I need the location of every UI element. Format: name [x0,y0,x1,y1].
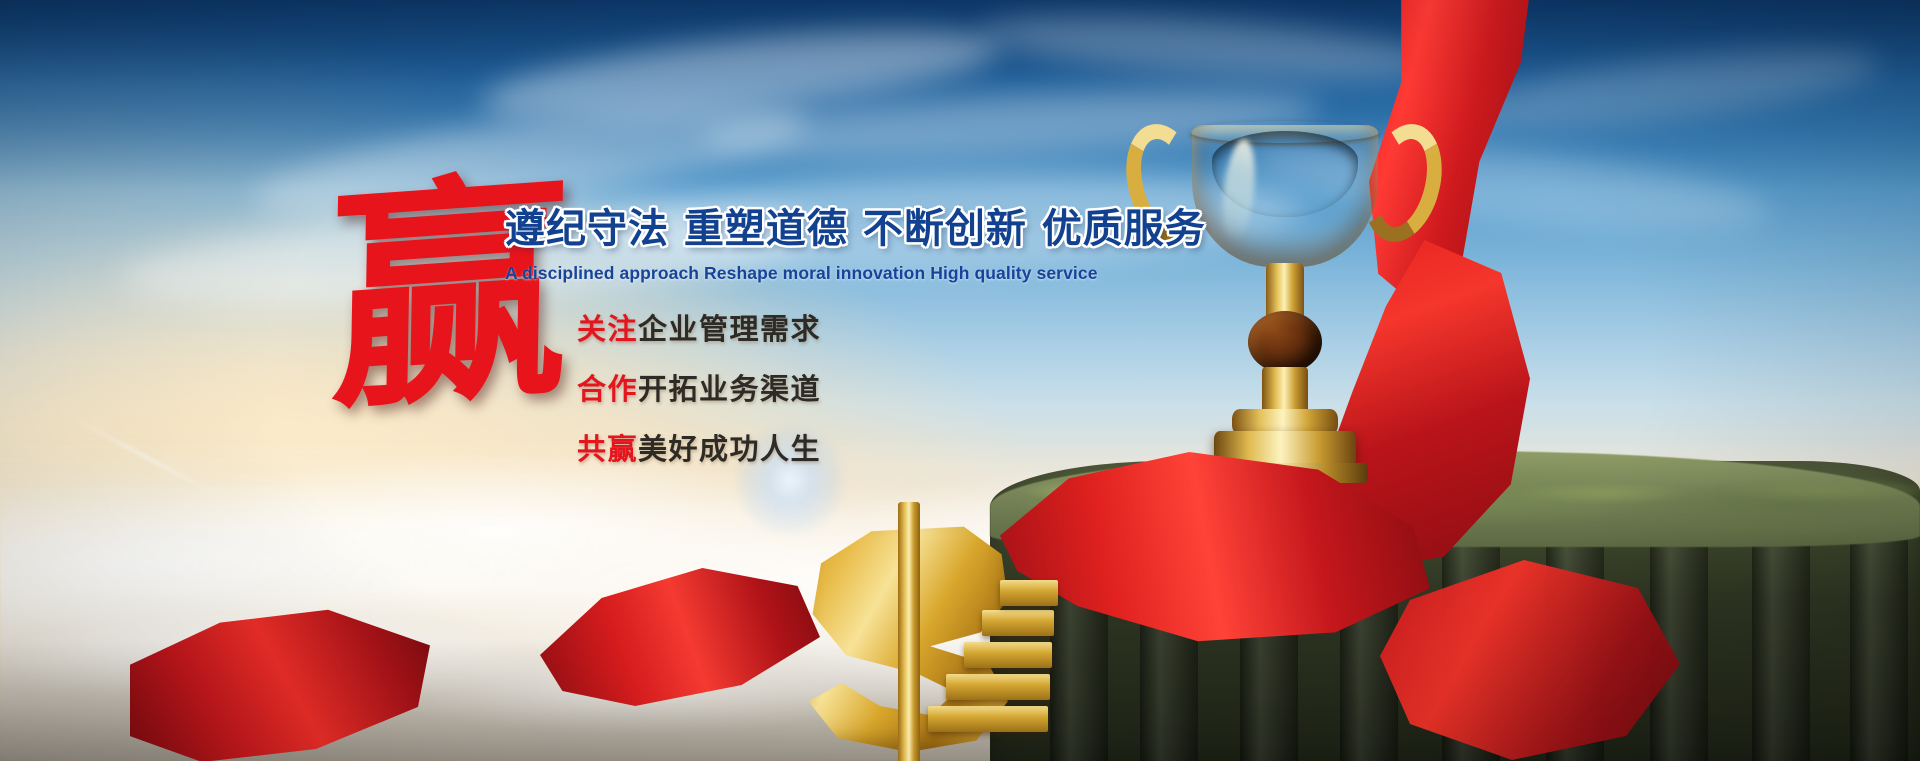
slogan-rest: 开拓业务渠道 [638,372,821,406]
slogan-highlight: 关注 [577,312,638,346]
trophy-base-tier-2 [1214,431,1356,467]
slogan-rest: 美好成功人生 [638,432,821,466]
slogan-item: 关注企业管理需求 [577,306,1125,348]
gold-dollar-sign [760,500,1060,761]
slogan-list: 关注企业管理需求 合作开拓业务渠道 共赢美好成功人生 [505,306,1125,468]
banner-headline: 遵纪守法 重塑道德 不断创新 优质服务 [505,196,1125,254]
trophy-stem-lower [1262,367,1308,415]
slogan-highlight: 合作 [577,372,638,406]
slogan-item: 合作开拓业务渠道 [577,366,1125,408]
slogan-highlight: 共赢 [577,432,638,466]
banner-text-block: 遵纪守法 重塑道德 不断创新 优质服务 A disciplined approa… [505,196,1125,486]
dollar-vertical-bar [898,502,920,761]
trophy-base-tier-3 [1202,463,1368,483]
banner-subheadline-english: A disciplined approach Reshape moral inn… [505,263,1125,284]
trophy-knob [1248,311,1322,373]
trophy-rim [1190,121,1380,143]
slogan-rest: 企业管理需求 [638,312,821,346]
gold-trophy [1120,105,1450,505]
dollar-steps [928,556,1118,756]
promotional-banner: 赢 遵纪守法 重塑道德 不断创新 优质服务 A disciplined appr… [0,0,1920,761]
slogan-item: 共赢美好成功人生 [577,426,1125,468]
